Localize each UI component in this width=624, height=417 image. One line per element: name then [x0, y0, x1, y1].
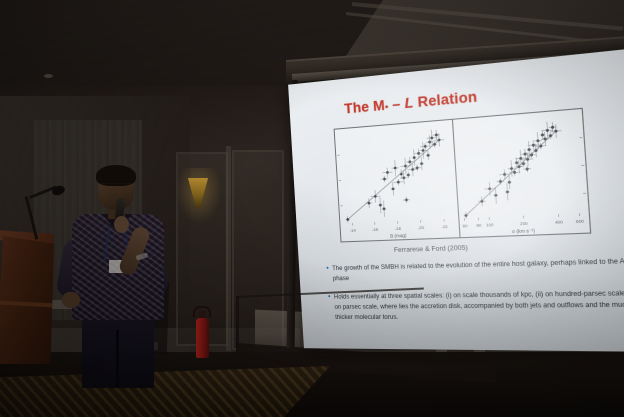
bullet-item: • The growth of the SMBH is related to t… [326, 257, 624, 285]
svg-text:10⁸: 10⁸ [588, 162, 592, 168]
svg-text:-20: -20 [418, 225, 425, 231]
presenter-hand-holding-mic [114, 216, 129, 233]
scatter-plot-svg: -14-16-18-20-2210⁹10⁸10⁷B (mag)M_BH (M☉)… [334, 108, 592, 243]
bullet-text: Holds essentially at three spatial scale… [334, 291, 624, 321]
slide-title: The M• – L Relation [344, 89, 478, 117]
svg-text:-18: -18 [395, 226, 401, 232]
bullet-marker-icon: • [326, 265, 329, 272]
svg-text:80: 80 [476, 222, 482, 228]
stage-rail-vertical [236, 296, 239, 358]
bullet-item: • Holds essentially at three spatial sca… [328, 290, 624, 324]
svg-text:400: 400 [555, 219, 564, 225]
downlight-icon [44, 74, 53, 78]
svg-text:B (mag): B (mag) [390, 233, 407, 239]
svg-text:60: 60 [462, 223, 468, 229]
chart-axis-labels: -14-16-18-20-2210⁹10⁸10⁷B (mag)M_BH (M☉)… [334, 134, 592, 241]
svg-text:-22: -22 [441, 224, 448, 230]
wall-panel-divider [226, 146, 231, 351]
slide-title-suffix: Relation [413, 89, 478, 111]
wooden-lectern [0, 236, 54, 364]
svg-text:-14: -14 [350, 227, 357, 232]
eyeglasses-icon [101, 183, 131, 190]
svg-text:10⁷: 10⁷ [334, 203, 338, 209]
chart-panel-right [458, 119, 587, 221]
bullet-text: The growth of the SMBH is related to the… [332, 258, 624, 282]
slide-title-prefix: The M [344, 97, 385, 116]
svg-text:10⁸: 10⁸ [334, 178, 337, 184]
svg-text:10⁷: 10⁷ [590, 190, 592, 196]
svg-text:100: 100 [486, 222, 495, 228]
fire-extinguisher [196, 318, 209, 358]
svg-text:200: 200 [520, 220, 529, 226]
svg-text:600: 600 [576, 218, 585, 224]
presenter-speaker [54, 168, 186, 383]
projection-screen: The M• – L Relation -14-16-18-20-2210⁹10… [288, 47, 624, 352]
presenter-hand [62, 292, 80, 308]
figure-caption: Ferrarese & Ford (2005) [394, 244, 468, 254]
svg-text:10⁹: 10⁹ [334, 153, 335, 159]
chart-panel-left [336, 129, 449, 226]
presentation-slide: The M• – L Relation -14-16-18-20-2210⁹10… [288, 47, 624, 352]
slide-title-dash: – [388, 96, 405, 113]
figure-two-panel-scatter: -14-16-18-20-2210⁹10⁸10⁷B (mag)M_BH (M☉)… [334, 108, 592, 243]
bullet-marker-icon: • [328, 294, 331, 301]
svg-text:σ (km s⁻¹): σ (km s⁻¹) [512, 228, 536, 234]
slide-bullet-list: • The growth of the SMBH is related to t… [326, 257, 624, 334]
svg-text:10⁹: 10⁹ [586, 134, 592, 140]
conference-room-photo: The M• – L Relation -14-16-18-20-2210⁹10… [0, 0, 624, 417]
svg-text:-16: -16 [372, 227, 378, 233]
presenter-leg-gap [116, 330, 119, 388]
